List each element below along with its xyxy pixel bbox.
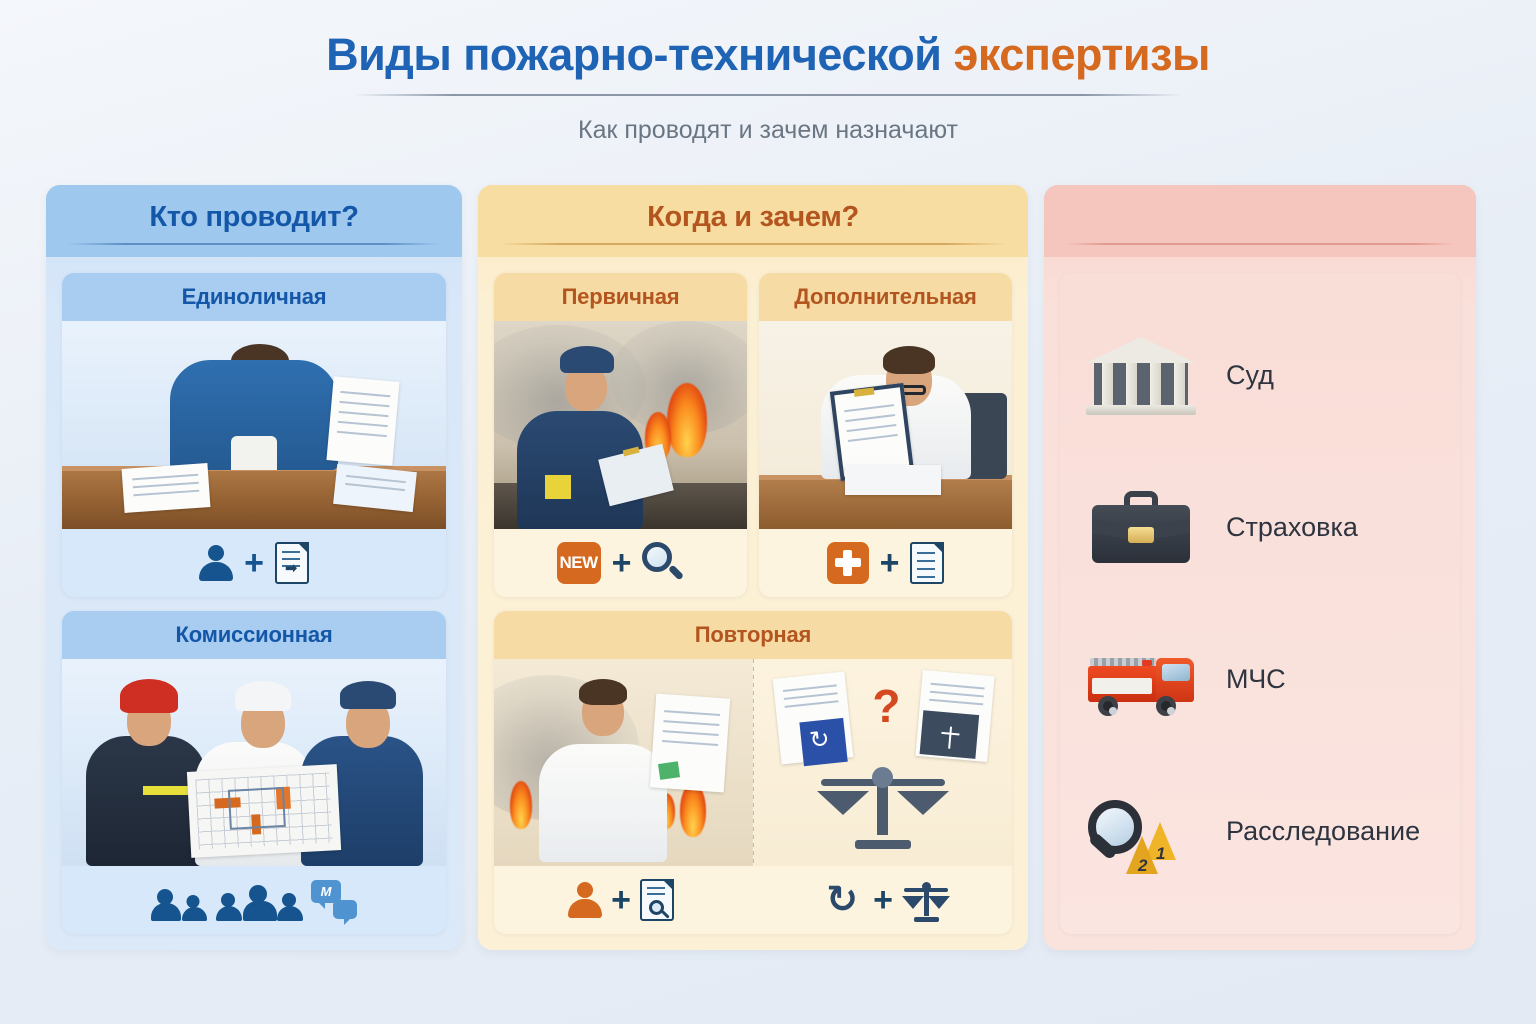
icon-group-right: ↻ + <box>758 878 1012 922</box>
list-item-label: Суд <box>1226 360 1274 391</box>
card-header: Единоличная <box>62 273 446 321</box>
list-item-emercom[interactable]: МЧС <box>1082 620 1438 740</box>
header-divider <box>1066 243 1454 245</box>
card-edinolichnaya[interactable]: Единоличная <box>62 273 446 597</box>
person-icon-orange <box>568 882 602 918</box>
column-who-needs-it: Суд Страховка <box>1044 185 1476 950</box>
header-divider <box>68 243 440 245</box>
column-header-label: Кто проводит? <box>149 201 358 234</box>
plus-sign: + <box>612 546 632 580</box>
list-item-court[interactable]: Суд <box>1082 315 1438 435</box>
illustration-expert-review <box>494 659 753 867</box>
evidence-marker-number: 2 <box>1138 856 1147 876</box>
new-badge-icon: NEW <box>557 542 601 584</box>
page-title-accent: экспертизы <box>953 29 1209 80</box>
list-item-investigation[interactable]: 1 2 Расследование <box>1082 772 1438 892</box>
columns-container: Кто проводит? Единоличная <box>0 185 1536 950</box>
plus-sign: + <box>880 546 900 580</box>
page-subtitle: Как проводят и зачем назначают <box>0 116 1536 145</box>
document-icon <box>910 542 944 584</box>
plus-sign: + <box>873 883 893 917</box>
column-when-and-why: Когда и зачем? Первичная <box>478 185 1028 950</box>
card-icon-row: М <box>62 866 446 934</box>
card-pair-row: Первичная <box>494 273 1012 597</box>
page-header: Виды пожарно-технической экспертизы Как … <box>0 0 1536 145</box>
column-who-conducts: Кто проводит? Единоличная <box>46 185 462 950</box>
column-header-who-needs-it <box>1044 185 1476 257</box>
card-pervichnaya[interactable]: Первичная <box>494 273 747 597</box>
header-divider <box>500 243 1006 245</box>
question-mark: ? <box>872 683 900 729</box>
card-header: Первичная <box>494 273 747 321</box>
courthouse-icon <box>1082 327 1200 423</box>
card-title: Повторная <box>695 622 811 648</box>
illustration-repeat-examination: ↻ ? <box>494 659 1012 867</box>
card-header: Дополнительная <box>759 273 1012 321</box>
card-icon-row: NEW + <box>494 529 747 597</box>
column-header-label: Когда и зачем? <box>647 201 859 234</box>
column-header-when-and-why: Когда и зачем? <box>478 185 1028 257</box>
group-of-people-icon <box>151 879 301 921</box>
page-title-primary: Виды пожарно-технической <box>326 29 953 80</box>
plus-sign: + <box>611 883 631 917</box>
plus-sign: + <box>244 546 264 580</box>
title-divider <box>353 94 1183 96</box>
illustration-fire-scene-inspector <box>494 321 747 529</box>
document-arrow-icon: ➡ <box>275 542 309 584</box>
card-povtornaya[interactable]: Повторная <box>494 611 1012 935</box>
card-dopolnitelnaya[interactable]: Дополнительная <box>759 273 1012 597</box>
magnifier-icon <box>642 542 684 584</box>
card-icon-row: + <box>759 529 1012 597</box>
icon-group-left: + <box>494 879 748 921</box>
list-item-label: Страховка <box>1226 512 1358 543</box>
card-header: Повторная <box>494 611 1012 659</box>
list-item-label: МЧС <box>1226 664 1286 695</box>
magnifier-evidence-markers-icon: 1 2 <box>1082 784 1200 880</box>
scales-icon <box>902 878 950 922</box>
refresh-arrows-icon: ↻ <box>820 880 864 920</box>
scales-illustration <box>815 761 951 849</box>
list-item-label: Расследование <box>1226 816 1420 847</box>
plus-square-badge-icon <box>827 542 869 584</box>
card-icon-row: + ➡ <box>62 529 446 597</box>
column-body-who-conducts: Единоличная <box>46 257 462 950</box>
list-item-insurance[interactable]: Страховка <box>1082 467 1438 587</box>
card-title: Первичная <box>562 284 680 310</box>
column-body-when-and-why: Первичная <box>478 257 1028 950</box>
recipients-list: Суд Страховка <box>1060 273 1460 934</box>
illustration-documents-scales: ↻ ? <box>754 659 1013 867</box>
card-komissionnaya[interactable]: Комиссионная <box>62 611 446 935</box>
fire-truck-icon <box>1082 632 1200 728</box>
illustration-single-expert <box>62 321 446 529</box>
speech-bubbles-icon: М <box>311 880 357 920</box>
card-title: Комиссионная <box>175 622 332 648</box>
card-title: Единоличная <box>182 284 327 310</box>
briefcase-icon <box>1082 479 1200 575</box>
illustration-expert-writing <box>759 321 1012 529</box>
column-body-who-needs-it: Суд Страховка <box>1044 257 1476 950</box>
column-header-who-conducts: Кто проводит? <box>46 185 462 257</box>
card-icon-row: + ↻ + <box>494 866 1012 934</box>
page-title: Виды пожарно-технической экспертизы <box>0 30 1536 80</box>
card-header: Комиссионная <box>62 611 446 659</box>
illustration-commission-team <box>62 659 446 867</box>
card-title: Дополнительная <box>794 284 976 310</box>
person-icon <box>199 545 233 581</box>
document-magnifier-icon <box>640 879 674 921</box>
